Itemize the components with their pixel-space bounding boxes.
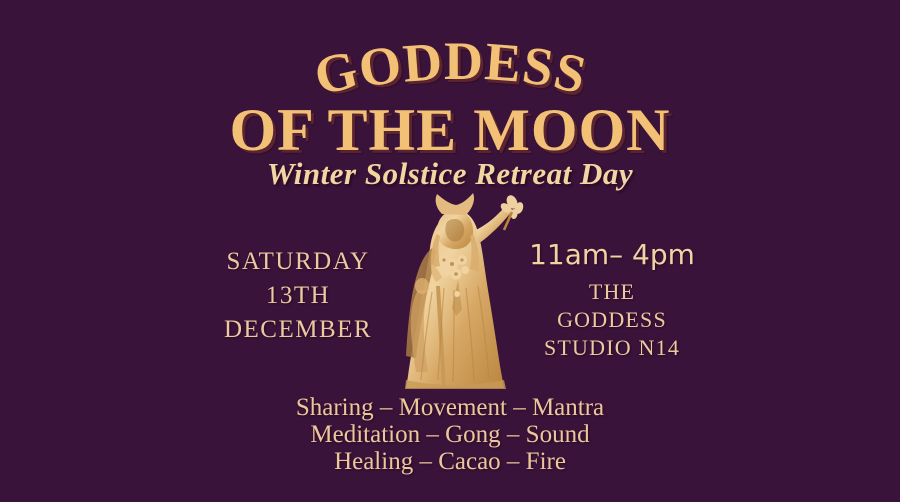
- event-venue-block: 11am– 4pm THE GODDESS STUDIO N14: [512, 238, 712, 362]
- offerings-line-1: Sharing – Movement – Mantra: [0, 394, 900, 421]
- date-weekday: SATURDAY: [198, 245, 398, 279]
- venue-line-3: STUDIO N14: [512, 334, 712, 362]
- title-letter: S: [549, 43, 590, 102]
- title-letter: D: [444, 34, 483, 88]
- offerings-line-3: Healing – Cacao – Fire: [0, 448, 900, 475]
- date-month: DECEMBER: [198, 313, 398, 347]
- venue-line-2: GODDESS: [512, 306, 712, 334]
- venue-name: THE GODDESS STUDIO N14: [512, 278, 712, 362]
- title-letter: O: [355, 36, 405, 96]
- event-poster: GODDESS OF THE MOON Winter Solstice Retr…: [0, 0, 900, 502]
- title-line-1: GODDESS: [0, 34, 900, 96]
- event-time: 11am– 4pm: [512, 238, 712, 272]
- event-date-block: SATURDAY 13TH DECEMBER: [198, 245, 398, 347]
- offerings-line-2: Meditation – Gong – Sound: [0, 421, 900, 448]
- poster-subtitle: Winter Solstice Retreat Day: [0, 156, 900, 192]
- title-letter: D: [401, 34, 444, 91]
- title-line-2: OF THE MOON: [0, 98, 900, 162]
- venue-line-1: THE: [512, 278, 712, 306]
- title-letter: G: [309, 42, 362, 104]
- goddess-figure-illustration: [392, 190, 528, 395]
- offerings-list: Sharing – Movement – Mantra Meditation –…: [0, 394, 900, 475]
- date-day: 13TH: [198, 279, 398, 313]
- title-letter: E: [483, 34, 523, 91]
- poster-title-block: GODDESS OF THE MOON: [0, 34, 900, 162]
